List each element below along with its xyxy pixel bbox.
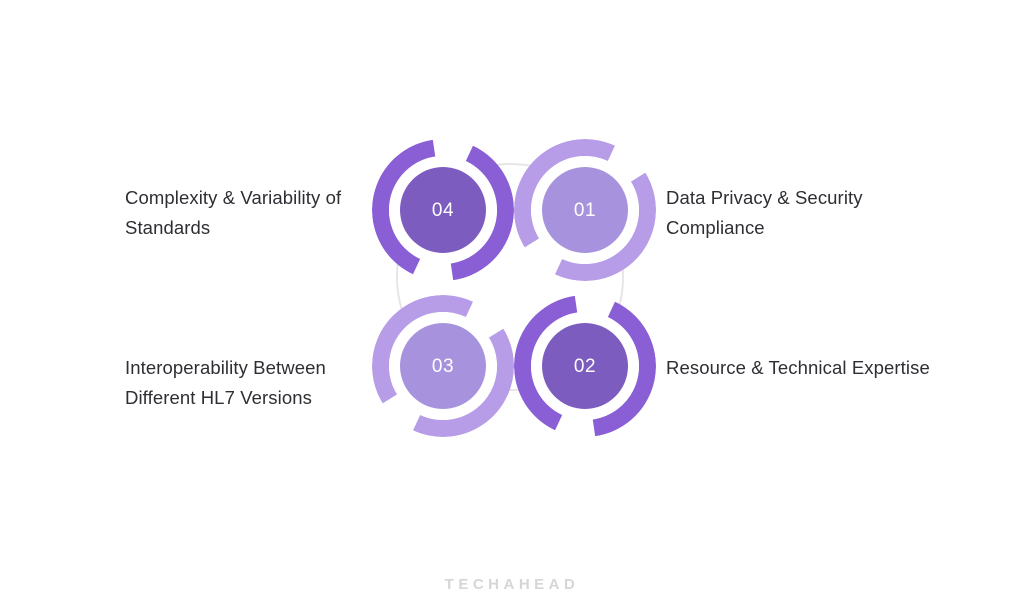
node-label-01: Data Privacy & Security Compliance	[666, 183, 931, 243]
node-04[interactable]: 04	[372, 139, 514, 281]
node-number-03: 03	[432, 357, 454, 376]
node-01[interactable]: 01	[514, 139, 656, 281]
node-label-04: Complexity & Variability of Standards	[125, 183, 375, 243]
infographic-canvas: 04 01 03	[0, 0, 1024, 609]
node-number-01: 01	[574, 201, 596, 220]
node-number-02: 02	[574, 357, 596, 376]
disc-02: 02	[542, 323, 628, 409]
node-03[interactable]: 03	[372, 295, 514, 437]
disc-04: 04	[400, 167, 486, 253]
node-02[interactable]: 02	[514, 295, 656, 437]
brand-wordmark: TECHAHEAD	[0, 576, 1024, 593]
node-label-02: Resource & Technical Expertise	[666, 353, 931, 383]
disc-03: 03	[400, 323, 486, 409]
node-label-03: Interoperability Between Different HL7 V…	[125, 353, 375, 413]
disc-01: 01	[542, 167, 628, 253]
node-number-04: 04	[432, 201, 454, 220]
